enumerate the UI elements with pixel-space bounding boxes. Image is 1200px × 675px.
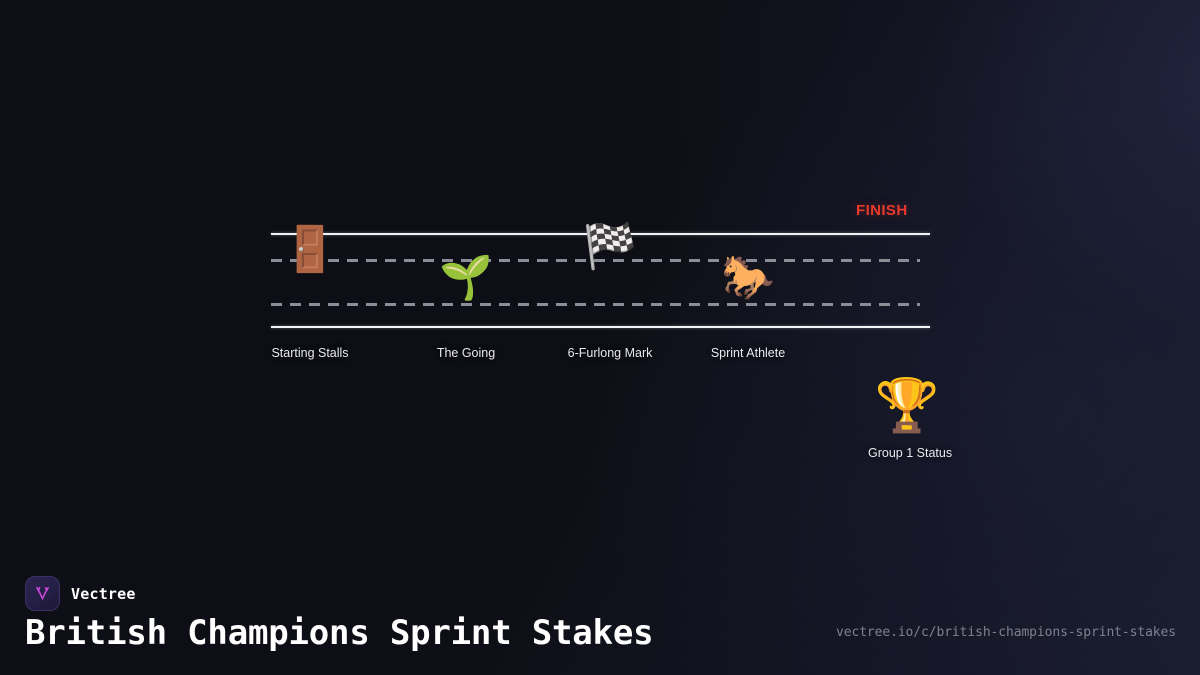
seedling-icon: 🌱 [439,257,493,300]
award-node-group-1-status[interactable]: 🏆 Group 1 Status [868,380,946,460]
track-rail-bottom [271,326,930,328]
brand-name: Vectree [71,585,136,603]
door-icon: 🚪 [283,228,338,272]
infographic-canvas: FINISH 🚪 Starting Stalls 🌱 The Going 🏁 6… [0,0,1200,675]
milestone-label: Starting Stalls [271,346,348,360]
page-title: British Champions Sprint Stakes [25,613,653,653]
award-label: Group 1 Status [868,446,946,460]
milestone-label: 6-Furlong Mark [568,346,653,360]
trophy-icon: 🏆 [868,380,946,432]
brand-row[interactable]: Vectree [25,576,136,611]
finish-label: FINISH [856,202,908,219]
milestone-label: Sprint Athlete [711,346,785,360]
racehorse-icon: 🐎 [721,257,775,300]
track-lane-divider-2 [271,303,920,306]
chequered-flag-icon: 🏁 [583,225,638,269]
page-url: vectree.io/c/british-champions-sprint-st… [836,625,1176,640]
vectree-logo-icon [25,576,60,611]
milestone-label: The Going [437,346,495,360]
